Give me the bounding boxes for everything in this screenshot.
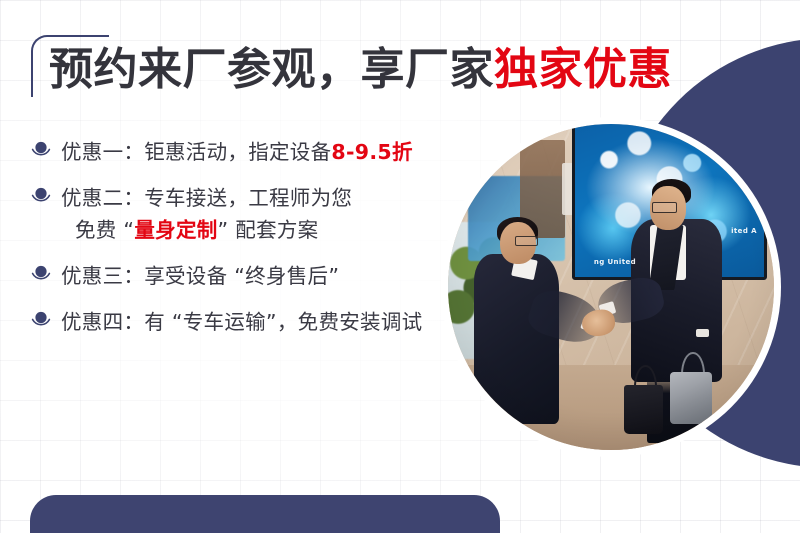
headline-main-text: 预约来厂参观，享厂家 (49, 44, 494, 95)
benefit-text-after: ” 配套方案 (218, 218, 319, 242)
benefit-text: 优惠一：钜惠活动，指定设备 (61, 140, 331, 164)
photo-right-man-glasses (652, 202, 677, 212)
list-item-text: 优惠一：钜惠活动，指定设备8-9.5折 (61, 136, 413, 168)
list-item-text: 优惠三：享受设备 “终身售后” (61, 260, 339, 292)
photo-left-man-glasses (515, 236, 538, 246)
benefit-line-secondary: 免费 “量身定制” 配套方案 (61, 218, 318, 242)
benefit-line: 优惠一：钜惠活动，指定设备8-9.5折 (61, 140, 413, 164)
bottom-navy-bar (30, 495, 500, 533)
circle-arc-bullet-icon (30, 309, 52, 339)
list-item: 优惠四：有 “专车运输”，免费安装调试 (30, 306, 500, 339)
benefit-line: 优惠三：享受设备 “终身售后” (61, 264, 339, 288)
handshake-photo-circle: ng United ited A (441, 117, 781, 457)
circle-arc-bullet-icon (30, 185, 52, 215)
benefit-text: 优惠三：享受设备 “终身售后” (61, 264, 339, 288)
headline-accent-text: 独家优惠 (494, 44, 672, 95)
circle-arc-bullet-icon (30, 263, 52, 293)
benefit-text: 优惠四：有 “专车运输”，免费安装调试 (61, 310, 422, 334)
benefits-list: 优惠一：钜惠活动，指定设备8-9.5折 优惠二：专车接送，工程师为您 免费 “量… (30, 136, 500, 352)
benefit-text-before: 免费 “ (75, 218, 134, 242)
list-item-text: 优惠二：专车接送，工程师为您 免费 “量身定制” 配套方案 (61, 182, 500, 247)
banner-headline: 预约来厂参观，享厂家独家优惠 (49, 44, 672, 96)
photo-screen-caption-1: ng United (594, 258, 636, 266)
list-item: 优惠三：享受设备 “终身售后” (30, 260, 500, 293)
benefit-text: 优惠二：专车接送，工程师为您 (61, 186, 352, 210)
benefit-accent: 8-9.5折 (331, 140, 412, 164)
list-item-text: 优惠四：有 “专车运输”，免费安装调试 (61, 306, 422, 338)
handshake-photo: ng United ited A (448, 124, 774, 450)
benefit-accent: 量身定制 (134, 218, 217, 242)
benefit-line: 优惠四：有 “专车运输”，免费安装调试 (61, 310, 422, 334)
list-item: 优惠二：专车接送，工程师为您 免费 “量身定制” 配套方案 (30, 182, 500, 247)
photo-left-man-body (474, 254, 559, 424)
benefit-line: 优惠二：专车接送，工程师为您 (61, 186, 352, 210)
photo-dark-bag (624, 385, 663, 434)
photo-grey-bag (670, 372, 712, 424)
circle-arc-bullet-icon (30, 139, 52, 169)
photo-right-man-watch (696, 329, 709, 337)
promotional-banner: 预约来厂参观，享厂家独家优惠 优惠一：钜惠活动，指定设备8-9.5折 (0, 0, 800, 533)
list-item: 优惠一：钜惠活动，指定设备8-9.5折 (30, 136, 500, 169)
photo-screen-caption-2: ited A (731, 227, 757, 235)
